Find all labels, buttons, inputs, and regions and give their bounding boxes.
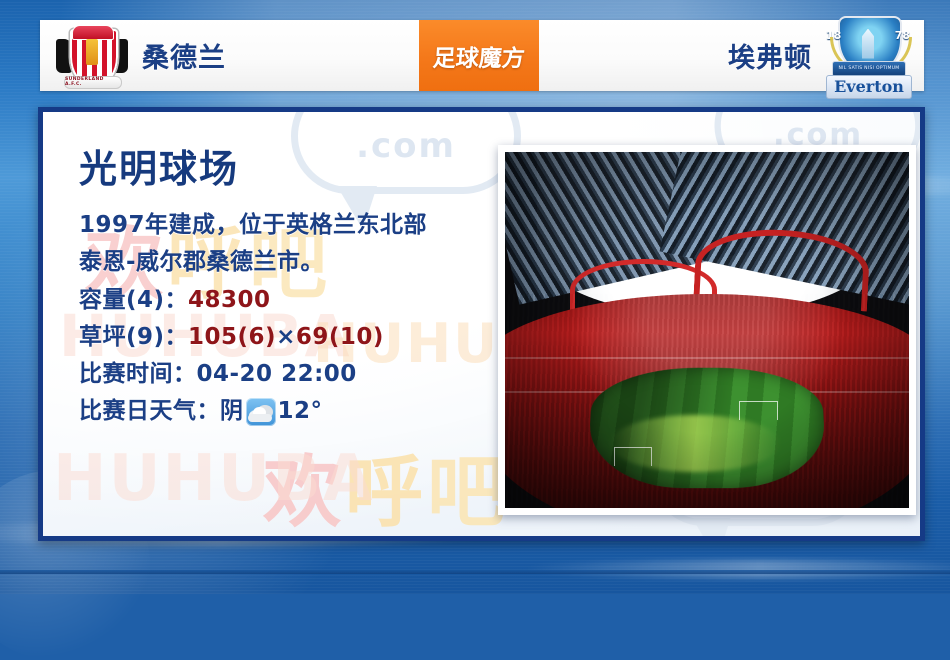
crest-torch-icon xyxy=(86,39,98,65)
home-team[interactable]: SUNDERLAND A.F.C. 桑德兰 xyxy=(40,23,226,89)
description-line-1: 1997年建成，位于英格兰东北部 xyxy=(79,207,509,244)
site-logo[interactable]: 足球魔方 xyxy=(419,20,539,91)
crest-motto-scroll: SUNDERLAND A.F.C. xyxy=(64,76,122,89)
stadium-info-block: 光明球场 1997年建成，位于英格兰东北部 泰恩-威尔郡桑德兰市。 容量(4)：… xyxy=(79,138,509,431)
pitch-separator: × xyxy=(276,324,296,350)
weather-label: 比赛日天气： xyxy=(79,393,220,430)
kickoff-value: 04-20 22:00 xyxy=(197,361,357,387)
weather-condition: 阴 xyxy=(220,393,244,430)
bg-swoosh-3 xyxy=(520,560,950,578)
site-logo-text: 足球魔方 xyxy=(432,39,526,73)
weather-temperature: 12° xyxy=(278,393,323,430)
home-team-name: 桑德兰 xyxy=(142,36,226,75)
crest-wordmark: Everton xyxy=(826,75,912,99)
bubble-tail xyxy=(692,518,730,541)
watermark-brand-bottom: 欢呼吧 xyxy=(263,430,509,541)
card-background: .com .com .com 欢呼吧 欢呼吧 HUHUBA HUHUBA HUH… xyxy=(43,112,920,536)
pitch-width: 69(10) xyxy=(296,324,384,350)
everton-crest: 18 78 NIL SATIS NISI OPTIMUM Everton xyxy=(820,13,916,99)
away-team[interactable]: 埃弗顿 18 78 NIL SATIS NISI OPTIMUM Everton xyxy=(728,13,924,99)
kickoff-row: 比赛时间：04-20 22:00 xyxy=(79,356,509,393)
away-team-name: 埃弗顿 xyxy=(728,36,812,75)
photo-vignette xyxy=(505,152,909,508)
pitch-length: 105(6) xyxy=(188,324,276,350)
stadium-info-card: .com .com .com 欢呼吧 欢呼吧 HUHUBA HUHUBA HUH… xyxy=(38,107,925,541)
stadium-photo-frame[interactable] xyxy=(498,145,916,515)
capacity-value: 48300 xyxy=(188,287,271,313)
sunderland-crest: SUNDERLAND A.F.C. xyxy=(56,23,128,89)
watermark-char-3: 吧 xyxy=(427,448,509,538)
stadium-photo xyxy=(505,152,909,508)
kickoff-label: 比赛时间： xyxy=(79,361,197,387)
crest-cap xyxy=(72,25,114,40)
weather-row: 比赛日天气：阴12° xyxy=(79,393,509,430)
bottom-accent-strip xyxy=(0,570,950,574)
cloudy-icon xyxy=(246,398,276,426)
watermark-char-2: 呼 xyxy=(345,448,427,538)
pitch-label: 草坪(9)： xyxy=(79,324,188,350)
capacity-row: 容量(4)：48300 xyxy=(79,282,509,319)
capacity-label: 容量(4)： xyxy=(79,287,188,313)
description-line-2: 泰恩-威尔郡桑德兰市。 xyxy=(79,244,509,281)
pitch-row: 草坪(9)：105(6)×69(10) xyxy=(79,319,509,356)
watermark-char-1: 欢 xyxy=(263,448,345,538)
stadium-title: 光明球场 xyxy=(79,138,509,193)
watermark-latin-2: HUHUBA xyxy=(53,442,374,516)
